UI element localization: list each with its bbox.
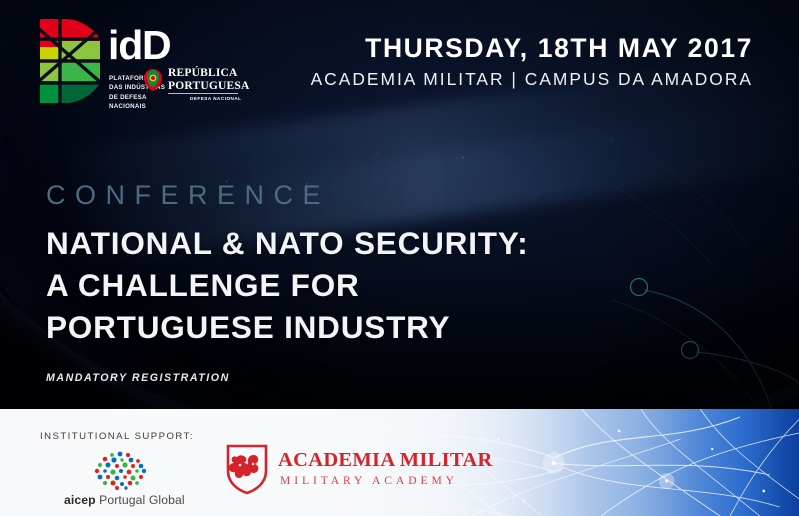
headline-line-1: NATIONAL & NATO SECURITY: — [46, 223, 606, 265]
republica-line-1: REPÚBLICA — [168, 67, 249, 80]
headline-line-2: A CHALLENGE FOR — [46, 265, 606, 307]
event-venue: ACADEMIA MILITAR | CAMPUS DA AMADORA — [311, 68, 753, 91]
poster-footer: INSTITUTIONAL SUPPORT: — [0, 409, 799, 516]
idd-logo-mark-icon — [38, 17, 100, 105]
registration-note: MANDATORY REGISTRATION — [46, 372, 230, 384]
aicep-logo: aicep Portugal Global — [64, 450, 180, 508]
idd-wordmark: idD — [108, 29, 170, 63]
kicker-label: CONFERENCE — [46, 182, 606, 209]
event-date: THURSDAY, 18TH MAY 2017 — [311, 34, 753, 64]
conference-headline: NATIONAL & NATO SECURITY: A CHALLENGE FO… — [46, 223, 606, 349]
republica-portuguesa-text: REPÚBLICA PORTUGUESA — [168, 67, 249, 93]
poster-header: idD PLATAFORMA DAS INDÚSTRIAS DE DEFESA … — [0, 0, 799, 120]
event-details: THURSDAY, 18TH MAY 2017 ACADEMIA MILITAR… — [311, 34, 753, 90]
republica-divider — [168, 93, 238, 94]
footer-content: INSTITUTIONAL SUPPORT: — [0, 409, 799, 516]
conference-poster: idD PLATAFORMA DAS INDÚSTRIAS DE DEFESA … — [0, 0, 799, 516]
aicep-wordmark: aicep Portugal Global — [64, 493, 180, 507]
headline-line-3: PORTUGUESE INDUSTRY — [46, 307, 606, 349]
academia-militar-title: ACADEMIA MILITAR — [278, 449, 493, 472]
ministry-label: DEFESA NACIONAL — [190, 96, 241, 101]
portuguese-shield-icon — [143, 68, 163, 92]
aicep-name-rest: Portugal Global — [96, 493, 185, 507]
academia-militar-shield-icon — [224, 443, 270, 495]
republica-portuguesa-logo: REPÚBLICA PORTUGUESA DEFESA NACIONAL — [143, 66, 247, 110]
academia-militar-logo: ACADEMIA MILITAR MILITARY ACADEMY — [224, 443, 440, 501]
academia-militar-subtitle: MILITARY ACADEMY — [280, 474, 458, 487]
republica-line-2: PORTUGUESA — [168, 80, 249, 93]
aicep-dots-icon — [87, 450, 154, 490]
main-content: CONFERENCE NATIONAL & NATO SECURITY: A C… — [46, 182, 606, 349]
institutional-support-label: INSTITUTIONAL SUPPORT: — [40, 431, 194, 442]
aicep-name-bold: aicep — [64, 493, 96, 507]
